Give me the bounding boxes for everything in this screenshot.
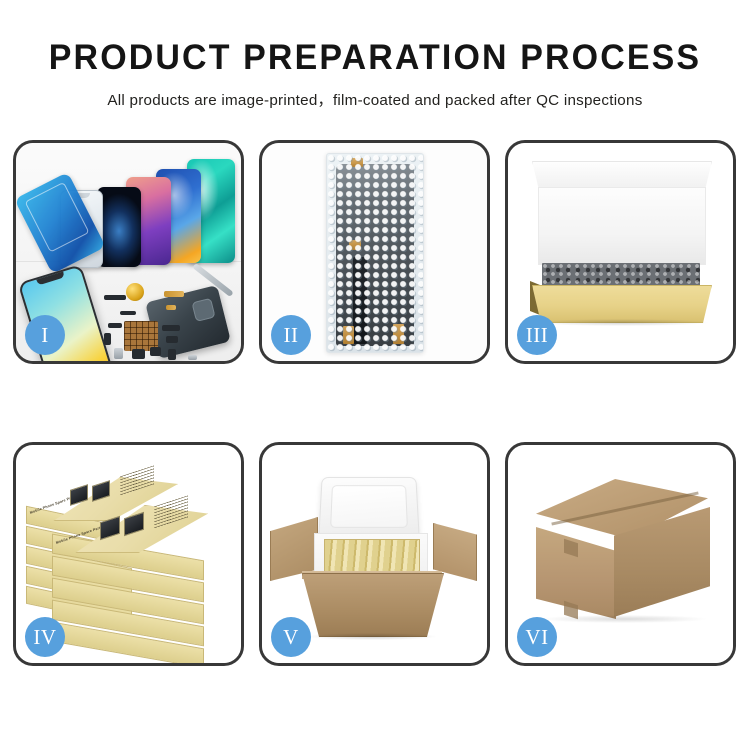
spare-part-icon: [104, 333, 111, 345]
process-step-panel-1[interactable]: I: [13, 140, 244, 364]
bubble-wrap-bag-icon: [326, 153, 424, 353]
process-step-panel-6[interactable]: VI: [505, 442, 736, 666]
spare-part-icon: [132, 349, 145, 359]
drop-shadow: [308, 633, 436, 640]
spare-part-icon: [150, 347, 161, 356]
drop-shadow: [536, 319, 708, 326]
spare-part-icon: [162, 325, 180, 331]
process-step-panel-3[interactable]: III: [505, 140, 736, 364]
box-base-icon: [532, 285, 712, 323]
bubble-texture-icon: [327, 154, 423, 352]
spare-part-icon: [168, 349, 176, 360]
spare-part-icon: [164, 291, 184, 297]
process-step-panel-2[interactable]: II: [259, 140, 490, 364]
spare-part-icon: [120, 311, 136, 315]
box-interior-icon: [538, 187, 706, 265]
step-badge-4: IV: [25, 617, 65, 657]
foam-cooler-lid-icon: [318, 477, 420, 539]
spare-part-icon: [166, 336, 178, 343]
gold-component-icon: [126, 283, 144, 301]
process-step-grid: I II III: [13, 140, 737, 666]
phone-dark-icon: [97, 187, 141, 267]
drop-shadow: [542, 615, 706, 623]
step-badge-6: VI: [517, 617, 557, 657]
page-subtitle: All products are image-printed，film-coat…: [0, 77, 750, 110]
step-badge-1: I: [25, 315, 65, 355]
page-header: PRODUCT PREPARATION PROCESS All products…: [0, 0, 750, 110]
step-badge-3: III: [517, 315, 557, 355]
step-badge-2: II: [271, 315, 311, 355]
process-step-panel-5[interactable]: V: [259, 442, 490, 666]
process-step-panel-4[interactable]: Mobile Phone Spare Parts Mobile Phone Sp…: [13, 442, 244, 666]
spare-part-icon: [108, 323, 122, 328]
spare-part-icon: [166, 305, 176, 310]
spare-part-icon: [104, 295, 126, 300]
spare-part-icon: [114, 348, 123, 359]
step-badge-5: V: [271, 617, 311, 657]
carton-body-icon: [302, 573, 444, 637]
spare-part-icon: [188, 355, 197, 360]
page-title: PRODUCT PREPARATION PROCESS: [11, 0, 739, 77]
